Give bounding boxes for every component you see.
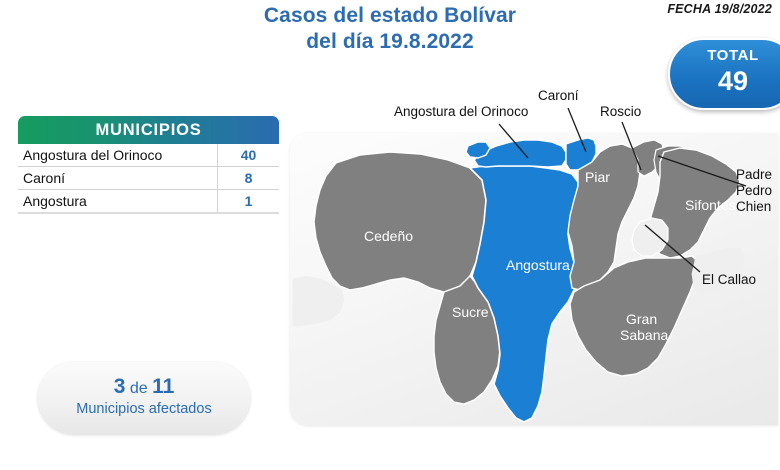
affected-ratio: 3 de 11	[38, 376, 250, 400]
total-value: 49	[670, 66, 780, 96]
municipio-name: Caroní	[18, 170, 217, 186]
total-label: TOTAL	[670, 47, 780, 65]
map-label-gran-sabana-line1: Gran	[626, 312, 657, 327]
municipios-table-header: MUNICIPIOS	[18, 116, 279, 144]
map-label-caroni: Caroní	[538, 88, 579, 103]
table-row: Angostura 1	[18, 190, 279, 212]
municipio-value: 1	[217, 190, 279, 212]
map-label-angostura-del-orinoco: Angostura del Orinoco	[394, 104, 528, 119]
page-title: Casos del estado Bolívar del día 19.8.20…	[0, 3, 780, 55]
map-label-cedeno: Cedeño	[364, 229, 413, 244]
map-label-gran-sabana-line2: Sabana	[620, 328, 668, 343]
affected-municipalities-panel: 3 de 11 Municipios afectados	[38, 362, 250, 434]
table-row: Caroní 8	[18, 167, 279, 190]
map-label-piar: Piar	[585, 170, 610, 185]
title-line-1: Casos del estado Bolívar	[264, 4, 516, 27]
title-line-2: del día 19.8.2022	[0, 29, 780, 55]
affected-count: 3	[114, 375, 126, 398]
map-label-sucre: Sucre	[452, 305, 489, 320]
municipio-value: 40	[217, 144, 279, 166]
map-label-padre-line2: Pedro	[736, 183, 772, 198]
total-badge: TOTAL 49	[668, 38, 780, 110]
table-row: Angostura del Orinoco 40	[18, 144, 279, 167]
municipio-value: 8	[217, 167, 279, 189]
map-label-el-callao: El Callao	[702, 272, 756, 287]
map-label-roscio: Roscio	[600, 104, 641, 119]
municipios-table-body: Angostura del Orinoco 40 Caroní 8 Angost…	[18, 144, 279, 214]
municipio-name: Angostura	[18, 193, 217, 209]
affected-connector: de	[125, 380, 152, 397]
affected-caption: Municipios afectados	[38, 400, 250, 419]
municipio-name: Angostura del Orinoco	[18, 147, 217, 163]
map-label-sifontes: Sifontes	[685, 198, 736, 213]
map-label-padre-line3: Chien	[736, 199, 771, 214]
map-label-padre-line1: Padre	[736, 167, 772, 182]
map-label-angostura: Angostura	[506, 258, 570, 273]
affected-total: 11	[152, 375, 174, 398]
municipios-table: MUNICIPIOS Angostura del Orinoco 40 Caro…	[18, 116, 279, 214]
